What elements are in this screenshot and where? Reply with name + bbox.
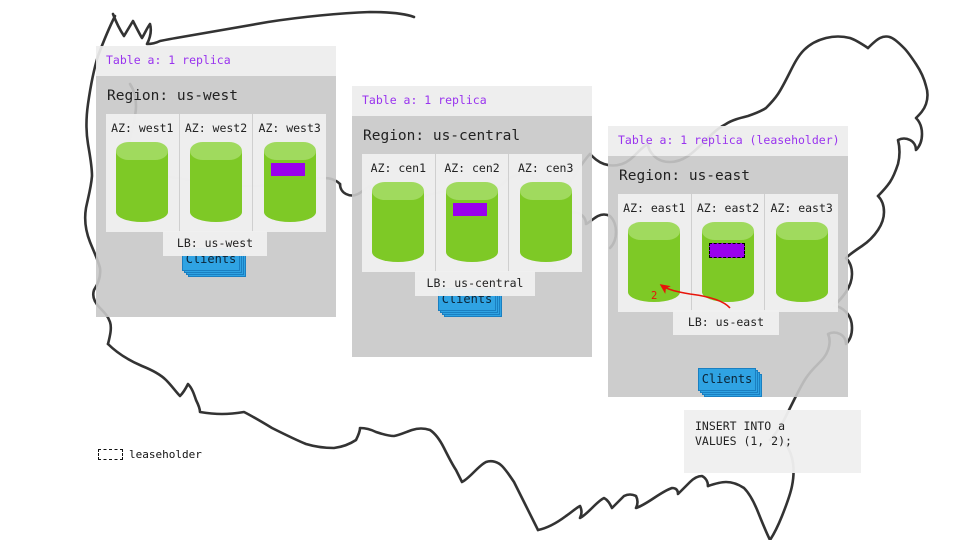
region-header-us-east: Table a: 1 replica (leaseholder): [608, 126, 848, 156]
az-label-west3: AZ: west3: [253, 123, 326, 135]
clients-button-label-us-east: Clients: [698, 368, 756, 391]
az-cell-cen3[interactable]: AZ: cen3: [508, 154, 582, 272]
node-cylinder-west3[interactable]: [264, 142, 316, 222]
load-balancer-label-us-west: LB: us-west: [177, 238, 253, 250]
node-cylinder-east3[interactable]: [776, 222, 828, 302]
leaseholder-swatch-icon: [98, 449, 123, 460]
az-label-west2: AZ: west2: [180, 123, 253, 135]
az-label-east1: AZ: east1: [618, 203, 691, 215]
legend: leaseholder: [98, 449, 202, 460]
sql-statement-box: INSERT INTO a VALUES (1, 2);: [684, 410, 861, 473]
region-title-us-west: Region: us-west: [96, 76, 336, 115]
region-panel-us-east: Table a: 1 replica (leaseholder) Region:…: [608, 126, 848, 397]
az-label-cen2: AZ: cen2: [436, 163, 509, 175]
load-balancer-us-east[interactable]: LB: us-east: [673, 310, 779, 335]
replica-rect-leaseholder-east2: [709, 243, 745, 258]
az-cell-cen1[interactable]: AZ: cen1: [362, 154, 435, 272]
az-cell-west2[interactable]: AZ: west2: [179, 114, 253, 232]
az-cell-west3[interactable]: AZ: west3: [252, 114, 326, 232]
az-cell-east3[interactable]: AZ: east3: [764, 194, 838, 312]
region-header-us-central: Table a: 1 replica: [352, 86, 592, 116]
node-cylinder-cen2[interactable]: [446, 182, 498, 262]
node-cylinder-west1[interactable]: [116, 142, 168, 222]
node-cylinder-cen3[interactable]: [520, 182, 572, 262]
az-cell-east1[interactable]: AZ: east1: [618, 194, 691, 312]
az-label-east3: AZ: east3: [765, 203, 838, 215]
load-balancer-label-us-east: LB: us-east: [688, 317, 764, 329]
legend-label-leaseholder: leaseholder: [129, 449, 202, 460]
az-cell-west1[interactable]: AZ: west1: [106, 114, 179, 232]
region-panel-us-central: Table a: 1 replica Region: us-central AZ…: [352, 86, 592, 357]
az-label-east2: AZ: east2: [692, 203, 765, 215]
az-label-cen1: AZ: cen1: [362, 163, 435, 175]
az-cell-cen2[interactable]: AZ: cen2: [435, 154, 509, 272]
region-title-us-central: Region: us-central: [352, 116, 592, 155]
node-cylinder-cen1[interactable]: [372, 182, 424, 262]
load-balancer-us-central[interactable]: LB: us-central: [415, 271, 535, 296]
az-label-west1: AZ: west1: [106, 123, 179, 135]
region-title-us-east: Region: us-east: [608, 156, 848, 195]
node-cylinder-east1[interactable]: [628, 222, 680, 302]
replica-rect-west3: [271, 163, 305, 176]
load-balancer-us-west[interactable]: LB: us-west: [163, 231, 267, 256]
node-cylinder-west2[interactable]: [190, 142, 242, 222]
diagram-canvas: Table a: 1 replica Region: us-west AZ: w…: [0, 0, 960, 540]
region-panel-us-west: Table a: 1 replica Region: us-west AZ: w…: [96, 46, 336, 317]
replica-rect-cen2: [453, 203, 487, 216]
load-balancer-label-us-central: LB: us-central: [427, 278, 524, 290]
clients-button-us-east[interactable]: Clients: [698, 368, 756, 391]
az-cell-east2[interactable]: AZ: east2: [691, 194, 765, 312]
az-label-cen3: AZ: cen3: [509, 163, 582, 175]
node-cylinder-east2[interactable]: [702, 222, 754, 302]
region-header-us-west: Table a: 1 replica: [96, 46, 336, 76]
